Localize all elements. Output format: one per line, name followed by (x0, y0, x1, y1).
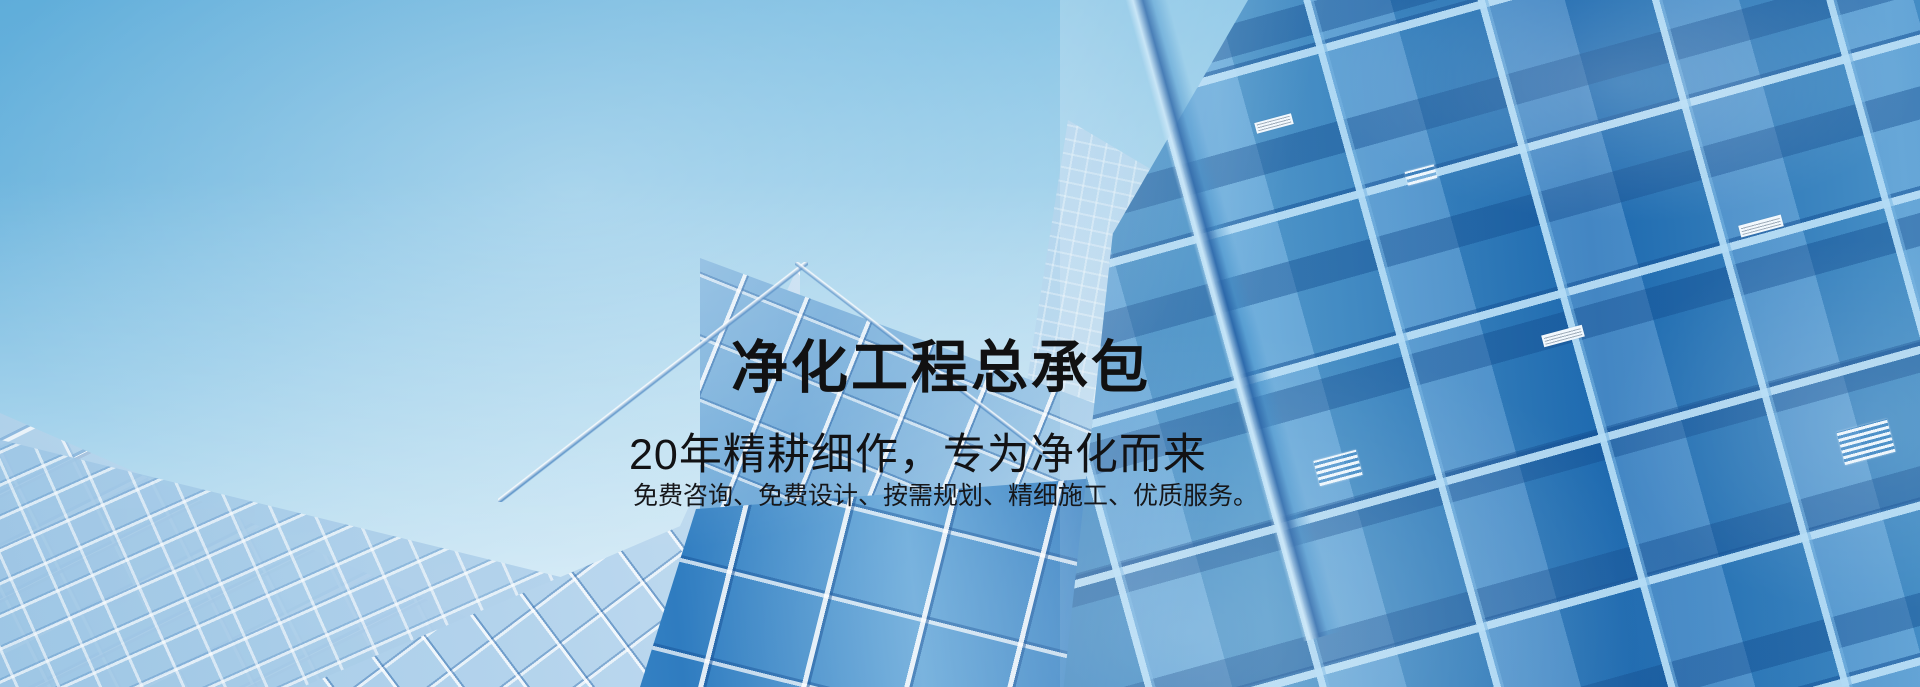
banner-headline: 净化工程总承包 (731, 337, 1151, 400)
hero-banner: 净化工程总承包 20年精耕细作，专为净化而来 免费咨询、免费设计、按需规划、精细… (0, 0, 1920, 687)
banner-subheadline: 20年精耕细作，专为净化而来 (629, 432, 1207, 479)
right-tower-glass-sheen (1060, 0, 1920, 687)
banner-tagline: 免费咨询、免费设计、按需规划、精细施工、优质服务。 (633, 483, 1258, 511)
